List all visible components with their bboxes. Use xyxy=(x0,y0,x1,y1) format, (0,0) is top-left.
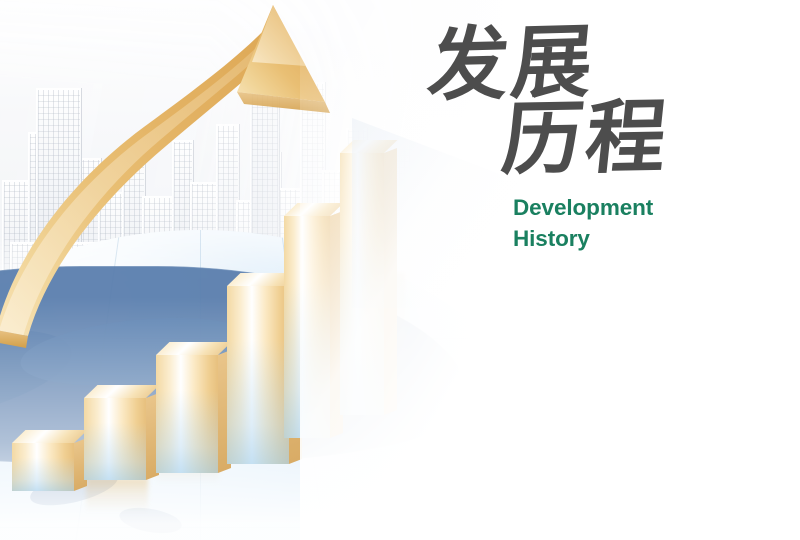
title-chinese-line-2: 历程 xyxy=(498,92,760,182)
title-english-line-2: History xyxy=(513,223,755,254)
bar-3 xyxy=(156,355,218,473)
title-english: Development History xyxy=(513,192,755,254)
bar-face xyxy=(156,355,218,473)
bar-face xyxy=(84,398,146,480)
banner-graphic: 发展 历程 Development History xyxy=(0,0,800,540)
title-english-line-1: Development xyxy=(513,192,755,223)
bar-1 xyxy=(12,443,74,491)
bar-face xyxy=(12,443,74,491)
bar-reflection xyxy=(86,478,148,512)
bar-2 xyxy=(84,398,146,480)
title-block: 发展 历程 Development History xyxy=(425,18,755,254)
